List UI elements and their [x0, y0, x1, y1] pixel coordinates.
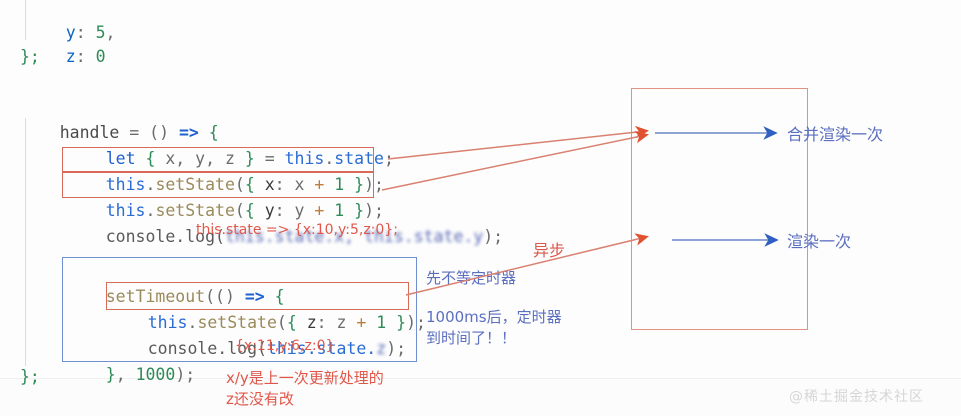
annotation-timer-note-2b: 到时间了！！	[426, 328, 516, 348]
code-line-handle-close: };	[20, 364, 40, 390]
render-batch-rectangle	[631, 88, 808, 330]
code-token-z-value: 0	[96, 47, 106, 66]
watermark: @稀土掘金技术社区	[789, 386, 924, 406]
highlight-box-setstate-z	[106, 282, 409, 310]
code-line-state-close: };	[20, 44, 40, 70]
highlight-box-setstate-x	[62, 147, 374, 172]
annotation-render-once: 渲染一次	[787, 231, 851, 253]
annotation-state-log-1: this.state => {x:10,y:5,z:0};	[196, 221, 398, 240]
annotation-note-xy-line1: x/y是上一次更新处理的	[226, 368, 384, 388]
screenshot-root: y: 5, z: 0 }; handle = () => { let { x, …	[0, 0, 961, 415]
annotation-timer-note-2a: 1000ms后，定时器	[426, 307, 562, 327]
code-token-z: z	[66, 47, 76, 66]
annotation-note-xy-line2: z还没有改	[226, 389, 294, 409]
annotation-async-label: 异步	[533, 240, 565, 262]
annotation-timer-note-1: 先不等定时器	[426, 268, 516, 288]
annotation-render-merged: 合并渲染一次	[787, 124, 883, 146]
annotation-state-log-2: {x:11,y:6,z:0}	[235, 337, 334, 356]
console-log-tail: );	[483, 227, 503, 246]
highlight-box-setstate-y	[62, 172, 374, 198]
